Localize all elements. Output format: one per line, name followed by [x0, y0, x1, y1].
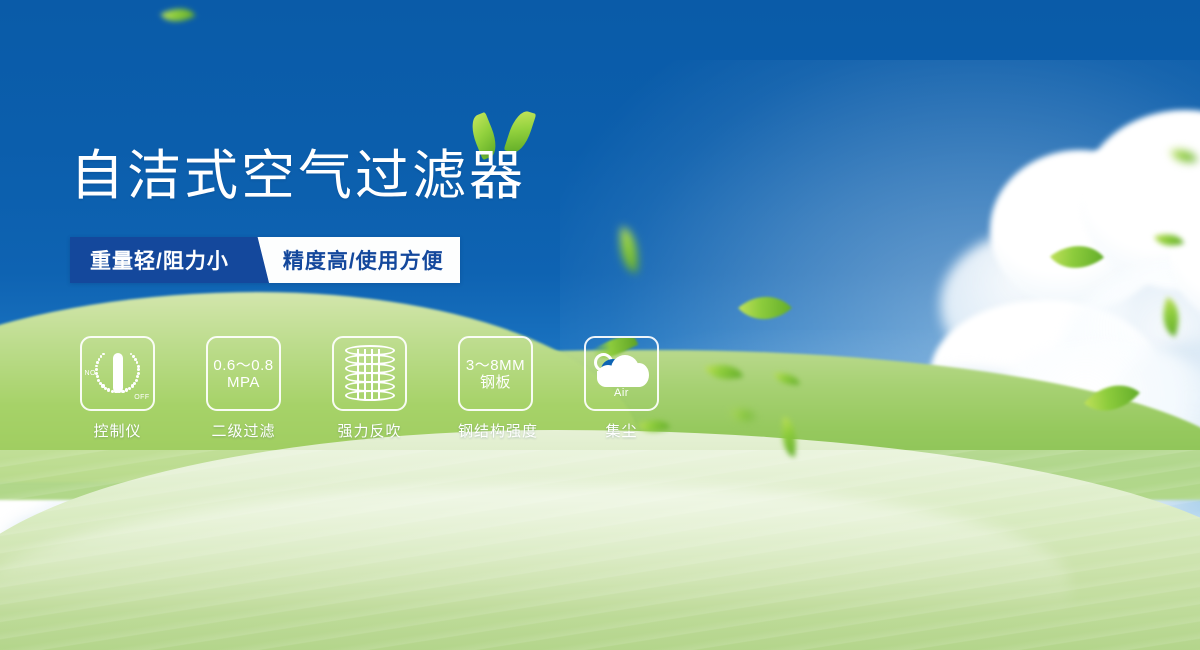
control-dial-icon: NO OFF — [87, 346, 149, 402]
feature-label: 强力反吹 — [332, 420, 407, 441]
feature-icon-box: 0.6～0.8 MPA — [206, 336, 281, 411]
feature-icon-box: 3～8MM 钢板 — [458, 336, 533, 411]
subtitle-divider-slash — [247, 237, 281, 283]
feature-icon-box: NO OFF — [80, 336, 155, 411]
subtitle-left-text: 重量轻/阻力小 — [70, 237, 247, 283]
feature-item-backblow[interactable]: 强力反吹 — [332, 336, 407, 441]
steel-material-text: 钢板 — [466, 374, 525, 391]
feature-label: 钢结构强度 — [458, 420, 533, 441]
product-banner: 自洁式空气过滤器 重量轻/阻力小 精度高/使用方便 NO OFF 控制仪 — [0, 0, 1200, 650]
air-label: Air — [591, 387, 653, 399]
feature-icon-box: Air — [584, 336, 659, 411]
dial-pointer-bar — [113, 353, 123, 393]
feature-item-dust[interactable]: Air 集尘 — [584, 336, 659, 441]
filter-coil-icon — [345, 345, 395, 403]
pressure-value-icon: 0.6～0.8 MPA — [213, 357, 273, 391]
feature-label: 控制仪 — [80, 420, 155, 441]
cloud-base — [597, 371, 647, 387]
air-cloud-icon: Air — [591, 345, 653, 403]
feature-icon-box — [332, 336, 407, 411]
feature-item-pressure[interactable]: 0.6～0.8 MPA 二级过滤 — [206, 336, 281, 441]
feature-item-steel[interactable]: 3～8MM 钢板 钢结构强度 — [458, 336, 533, 441]
steel-thickness-text: 3～8MM — [466, 357, 525, 374]
feature-list: NO OFF 控制仪 0.6～0.8 MPA 二级过滤 — [80, 336, 659, 441]
feature-label: 集尘 — [584, 420, 659, 441]
subtitle-right-text: 精度高/使用方便 — [281, 237, 460, 283]
dial-on-label: NO — [85, 370, 96, 377]
pressure-range-text: 0.6～0.8 — [213, 357, 273, 374]
page-title: 自洁式空气过滤器 — [70, 146, 526, 206]
feature-label: 二级过滤 — [206, 420, 281, 441]
steel-plate-icon: 3～8MM 钢板 — [466, 357, 525, 391]
subtitle-bar: 重量轻/阻力小 精度高/使用方便 — [70, 237, 460, 283]
pressure-unit-text: MPA — [213, 374, 273, 391]
feature-item-control[interactable]: NO OFF 控制仪 — [80, 336, 155, 441]
dial-off-label: OFF — [134, 394, 149, 401]
